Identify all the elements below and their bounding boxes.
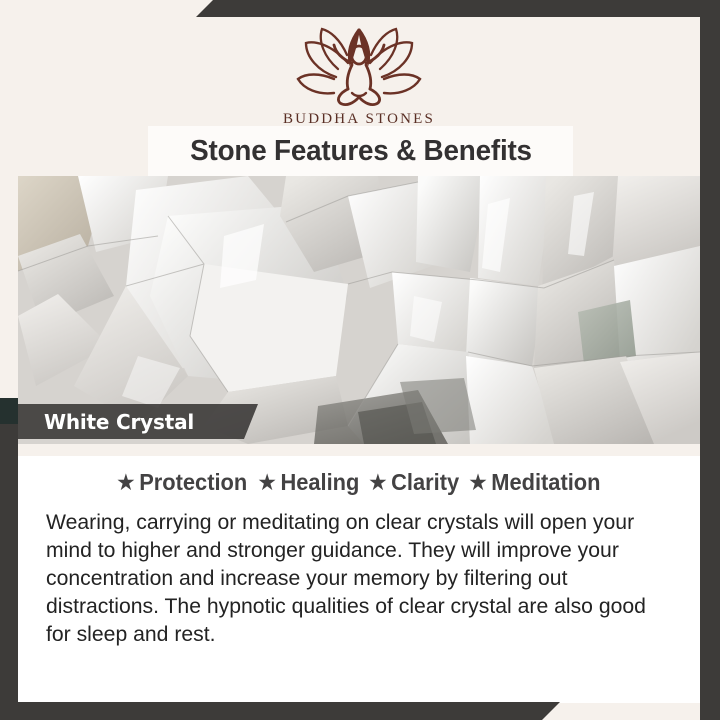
star-icon: ★ [369,473,386,493]
page-title: Stone Features & Benefits [190,135,532,168]
star-icon: ★ [258,473,275,493]
brand-logo: BUDDHA STONES [283,23,435,128]
crystal-cluster-illustration [18,176,700,444]
crystal-photo-canvas [18,176,700,444]
frame-top-bar [196,0,720,17]
product-info-card: BUDDHA STONES Stone Features & Benefits [0,0,720,720]
benefit-item-clarity: ★ Clarity [369,469,459,496]
frame-right-bar [700,0,720,720]
star-icon: ★ [117,473,134,493]
star-icon: ★ [470,473,487,493]
frame-left-bar [0,398,18,720]
benefit-item-protection: ★ Protection [117,469,247,496]
benefit-item-meditation: ★ Meditation [470,469,601,496]
frame-bottom-bar [0,702,560,720]
benefits-list: ★ Protection ★ Healing ★ Clarity ★ Medit… [18,469,700,496]
content-panel: ★ Protection ★ Healing ★ Clarity ★ Medit… [18,456,700,703]
photo-caption-banner: White Crystal [18,404,258,439]
benefit-item-healing: ★ Healing [258,469,359,496]
frame-left-accent [0,398,18,424]
benefit-label: Clarity [391,469,459,496]
benefit-label: Healing [280,469,359,496]
lotus-meditation-figure-icon [284,23,434,109]
benefit-label: Meditation [491,469,600,496]
page-title-band: Stone Features & Benefits [148,126,573,176]
photo-caption-text: White Crystal [18,410,194,434]
crystal-photo [18,176,700,444]
description-paragraph: Wearing, carrying or meditating on clear… [46,509,667,649]
content-divider-strip [18,444,700,456]
benefit-label: Protection [139,469,247,496]
